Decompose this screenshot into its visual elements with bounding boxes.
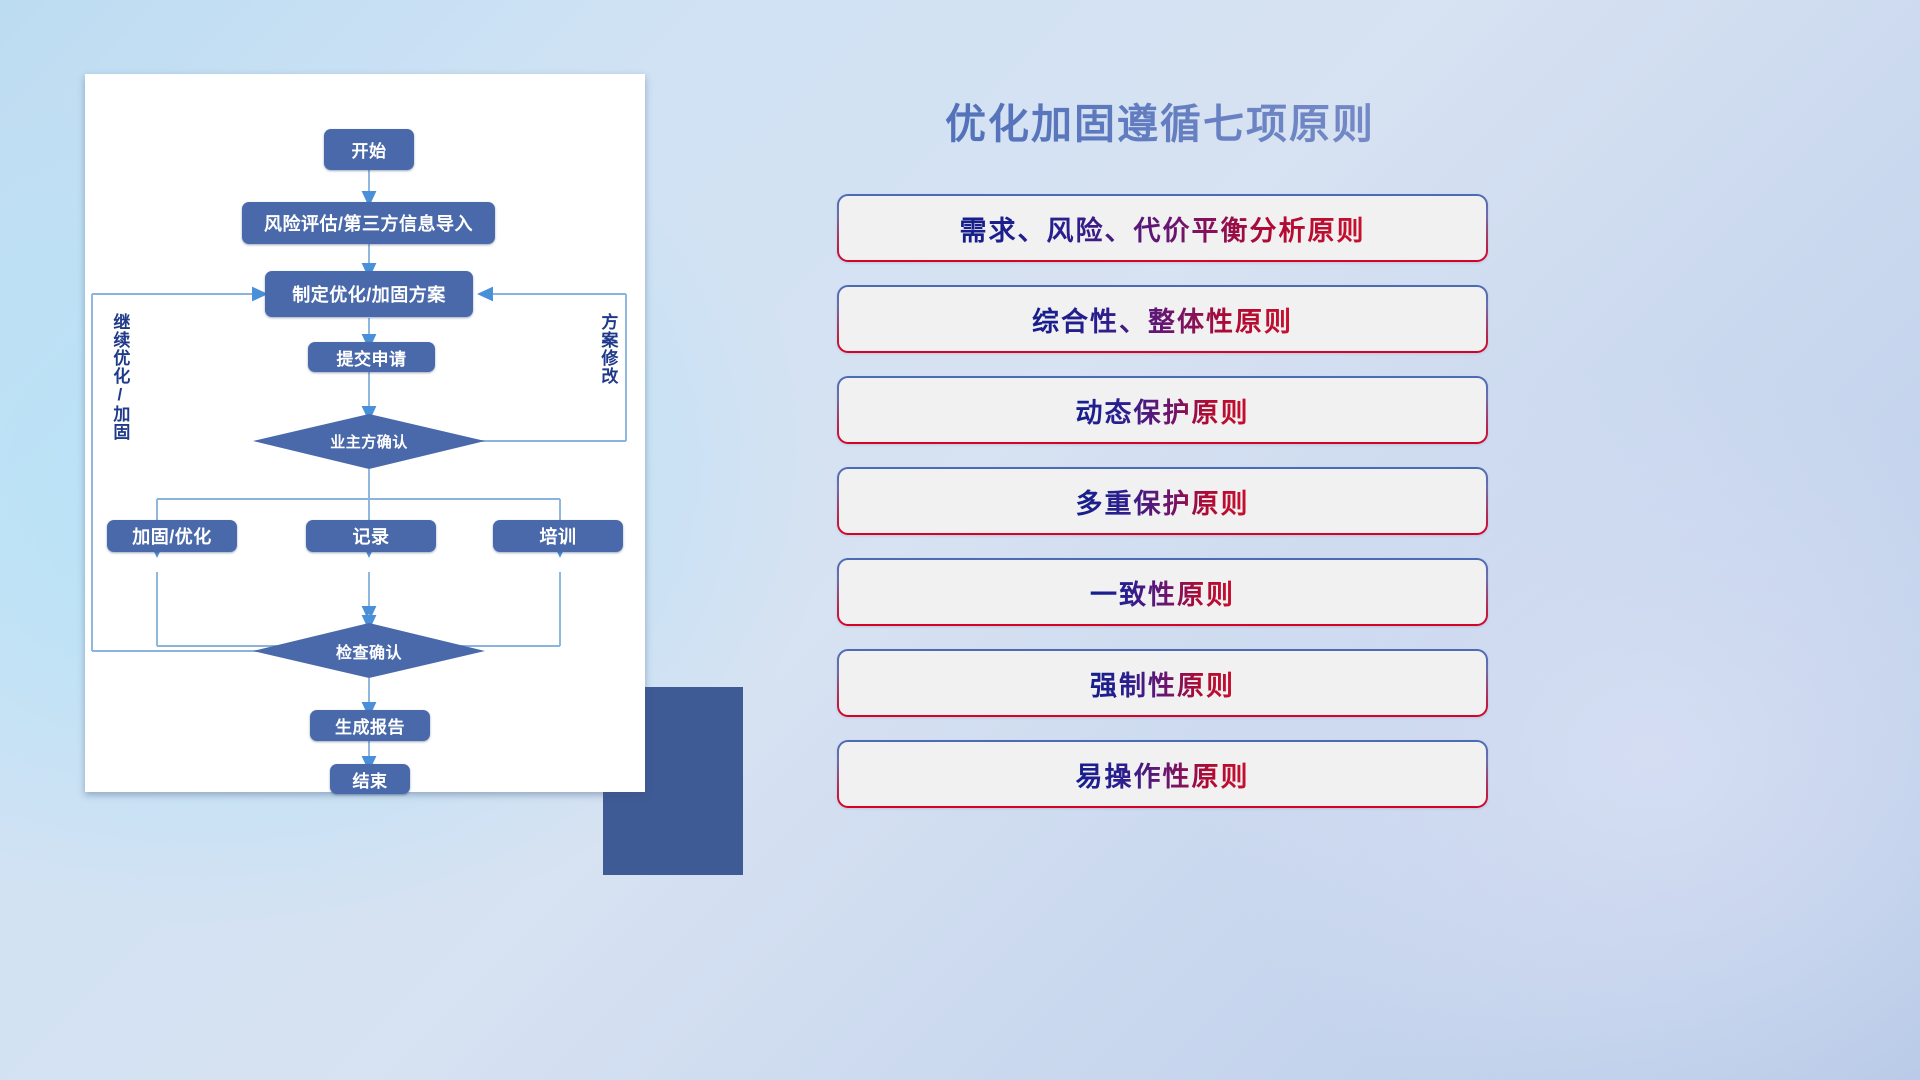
principle-label: 综合性、整体性原则 [1032, 300, 1293, 339]
principle-item-4[interactable]: 多重保护原则 [837, 467, 1488, 535]
principles-panel: 优化加固遵循七项原则 需求、风险、代价平衡分析原则 综合性、整体性原则 动态保护… [820, 70, 1500, 850]
flowchart-panel: 业主方确认 检查确认 开始 风险评估/第三方信息导入 制定优化/加固方案 提交申… [85, 74, 645, 792]
principle-label: 动态保护原则 [1076, 391, 1250, 430]
edge-label-plan-revision: 方案修改 [599, 313, 616, 413]
principle-label: 一致性原则 [1090, 573, 1235, 612]
node-make-plan[interactable]: 制定优化/加固方案 [265, 271, 473, 317]
principle-item-2[interactable]: 综合性、整体性原则 [837, 285, 1488, 353]
node-record[interactable]: 记录 [306, 520, 436, 552]
principle-label: 多重保护原则 [1076, 482, 1250, 521]
node-check-confirm-label: 检查确认 [309, 636, 429, 666]
node-submit-application[interactable]: 提交申请 [308, 342, 435, 372]
principle-label: 需求、风险、代价平衡分析原则 [960, 209, 1366, 248]
node-risk-assessment[interactable]: 风险评估/第三方信息导入 [242, 202, 495, 244]
edge-label-continue-optimize: 继续优化/加固 [111, 313, 128, 443]
principle-label: 易操作性原则 [1076, 755, 1250, 794]
page-title: 优化加固遵循七项原则 [820, 90, 1500, 150]
node-generate-report[interactable]: 生成报告 [310, 710, 430, 741]
node-training[interactable]: 培训 [493, 520, 623, 552]
principle-label: 强制性原则 [1090, 664, 1235, 703]
principle-item-1[interactable]: 需求、风险、代价平衡分析原则 [837, 194, 1488, 262]
principle-item-7[interactable]: 易操作性原则 [837, 740, 1488, 808]
principle-item-3[interactable]: 动态保护原则 [837, 376, 1488, 444]
principle-item-5[interactable]: 一致性原则 [837, 558, 1488, 626]
node-reinforce-optimize[interactable]: 加固/优化 [107, 520, 237, 552]
node-end[interactable]: 结束 [330, 764, 410, 794]
node-start[interactable]: 开始 [324, 129, 414, 170]
node-owner-confirm-label: 业主方确认 [309, 426, 429, 456]
principle-item-6[interactable]: 强制性原则 [837, 649, 1488, 717]
